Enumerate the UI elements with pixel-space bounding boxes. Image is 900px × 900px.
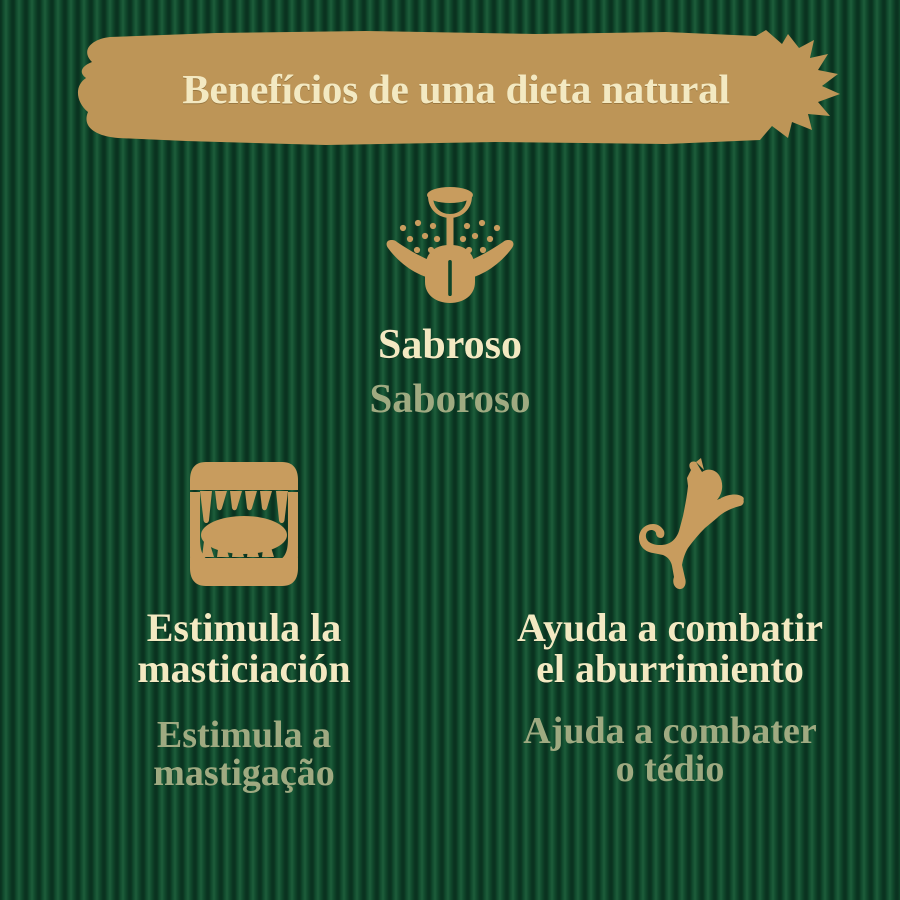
page-title: Benefícios de uma dieta natural xyxy=(66,28,846,146)
infographic-poster: Benefícios de uma dieta natural xyxy=(0,0,900,900)
jumping-dog-icon xyxy=(466,458,874,598)
benefit-label-es-line: el aburrimiento xyxy=(466,649,874,690)
benefit-label-pt: Estimula a mastigação xyxy=(58,716,430,794)
benefit-item-taste: Sabroso Saboroso xyxy=(265,182,635,420)
title-banner: Benefícios de uma dieta natural xyxy=(66,28,846,146)
benefit-item-chewing: Estimula la masticiación Estimula a mast… xyxy=(58,458,430,793)
open-mouth-teeth-icon xyxy=(58,458,430,590)
benefit-label-pt: Saboroso xyxy=(265,378,635,420)
benefit-label-es-line: masticiación xyxy=(58,649,430,690)
benefit-item-boredom: Ayuda a combatir el aburrimiento Ajuda a… xyxy=(466,458,874,789)
benefit-label-es-line: Estimula la xyxy=(58,608,430,649)
benefit-label-pt-line: o tédio xyxy=(466,750,874,789)
benefit-label-pt-line: Ajuda a combater xyxy=(466,712,874,751)
benefit-label-es-line: Sabroso xyxy=(265,324,635,367)
benefit-label-es: Estimula la masticiación xyxy=(58,608,430,690)
benefit-label-es: Sabroso xyxy=(265,324,635,367)
benefit-label-pt: Ajuda a combater o tédio xyxy=(466,712,874,790)
benefit-label-pt-line: mastigação xyxy=(58,754,430,793)
benefit-label-es: Ayuda a combatir el aburrimiento xyxy=(466,608,874,690)
benefit-label-es-line: Ayuda a combatir xyxy=(466,608,874,649)
benefit-label-pt-line: Saboroso xyxy=(265,378,635,420)
benefit-label-pt-line: Estimula a xyxy=(58,716,430,755)
tongue-taste-icon xyxy=(265,182,635,304)
